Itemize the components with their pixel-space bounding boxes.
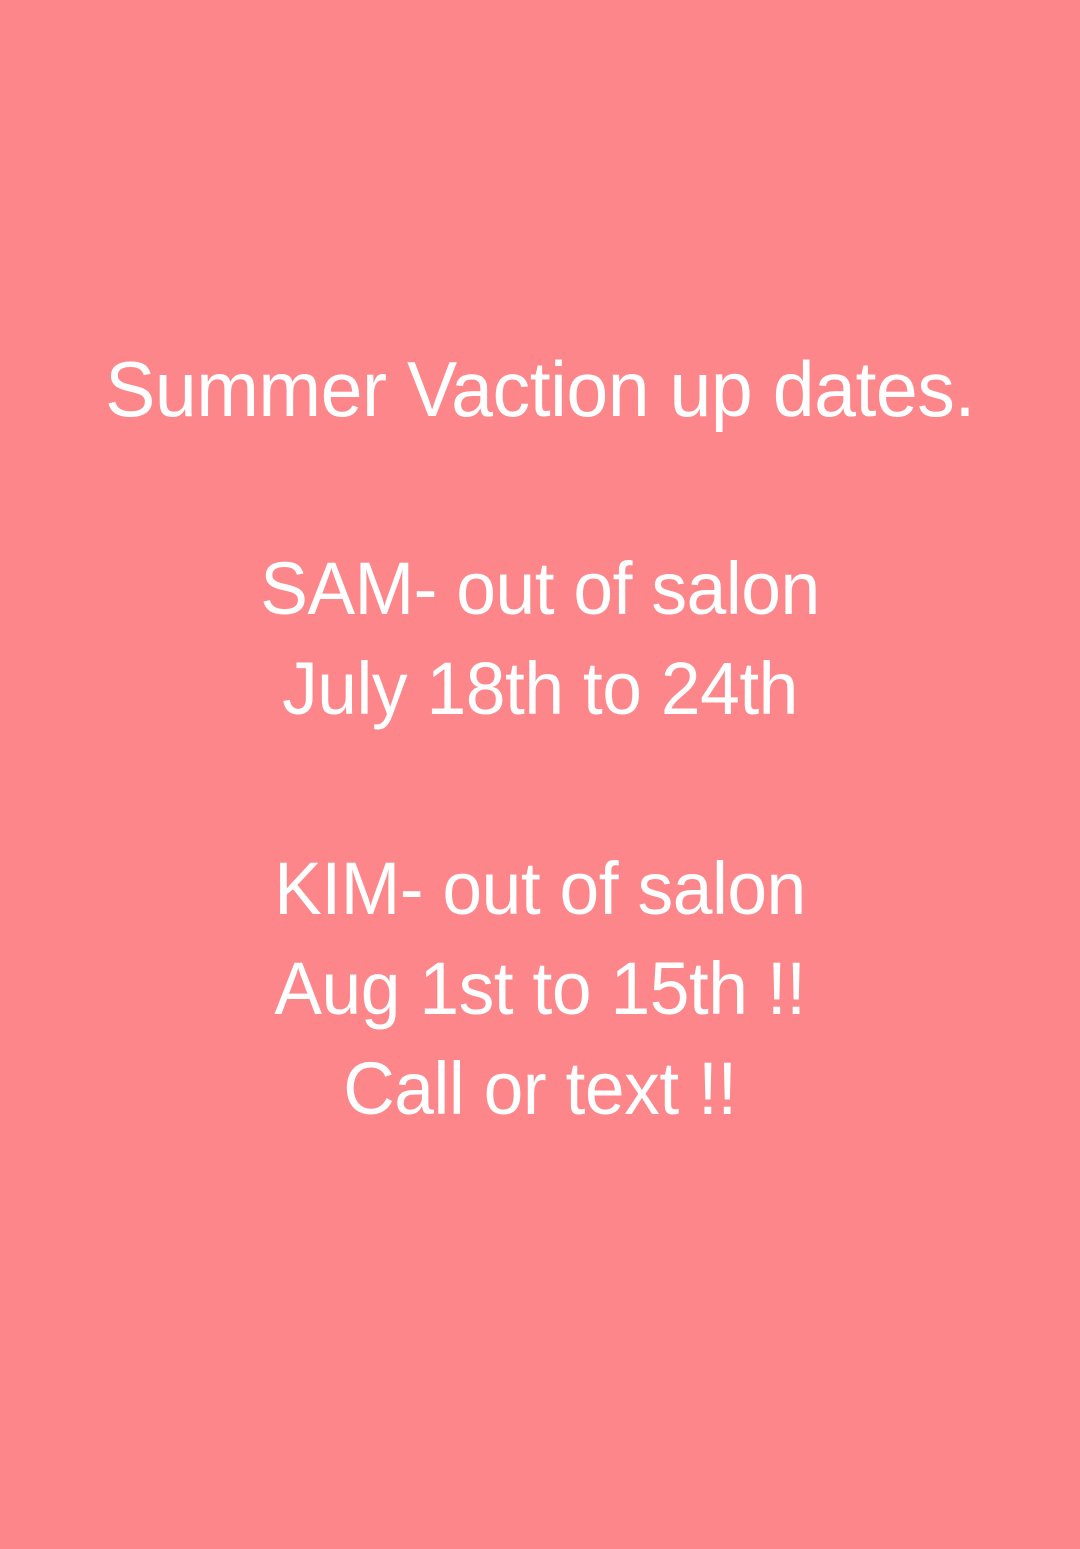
poster-text-block: Summer Vaction up dates. SAM- out of sal… <box>0 0 1080 1139</box>
poster-spacer-1 <box>19 439 1061 539</box>
sam-status-line: SAM- out of salon <box>19 539 1061 639</box>
call-or-text-line: Call or text !! <box>19 1039 1061 1139</box>
kim-status-line: KIM- out of salon <box>19 839 1061 939</box>
sam-dates-line: July 18th to 24th <box>19 639 1061 739</box>
announcement-poster: Summer Vaction up dates. SAM- out of sal… <box>0 0 1080 1549</box>
poster-title: Summer Vaction up dates. <box>19 339 1061 439</box>
poster-spacer-2 <box>19 739 1061 839</box>
kim-dates-line: Aug 1st to 15th !! <box>19 939 1061 1039</box>
